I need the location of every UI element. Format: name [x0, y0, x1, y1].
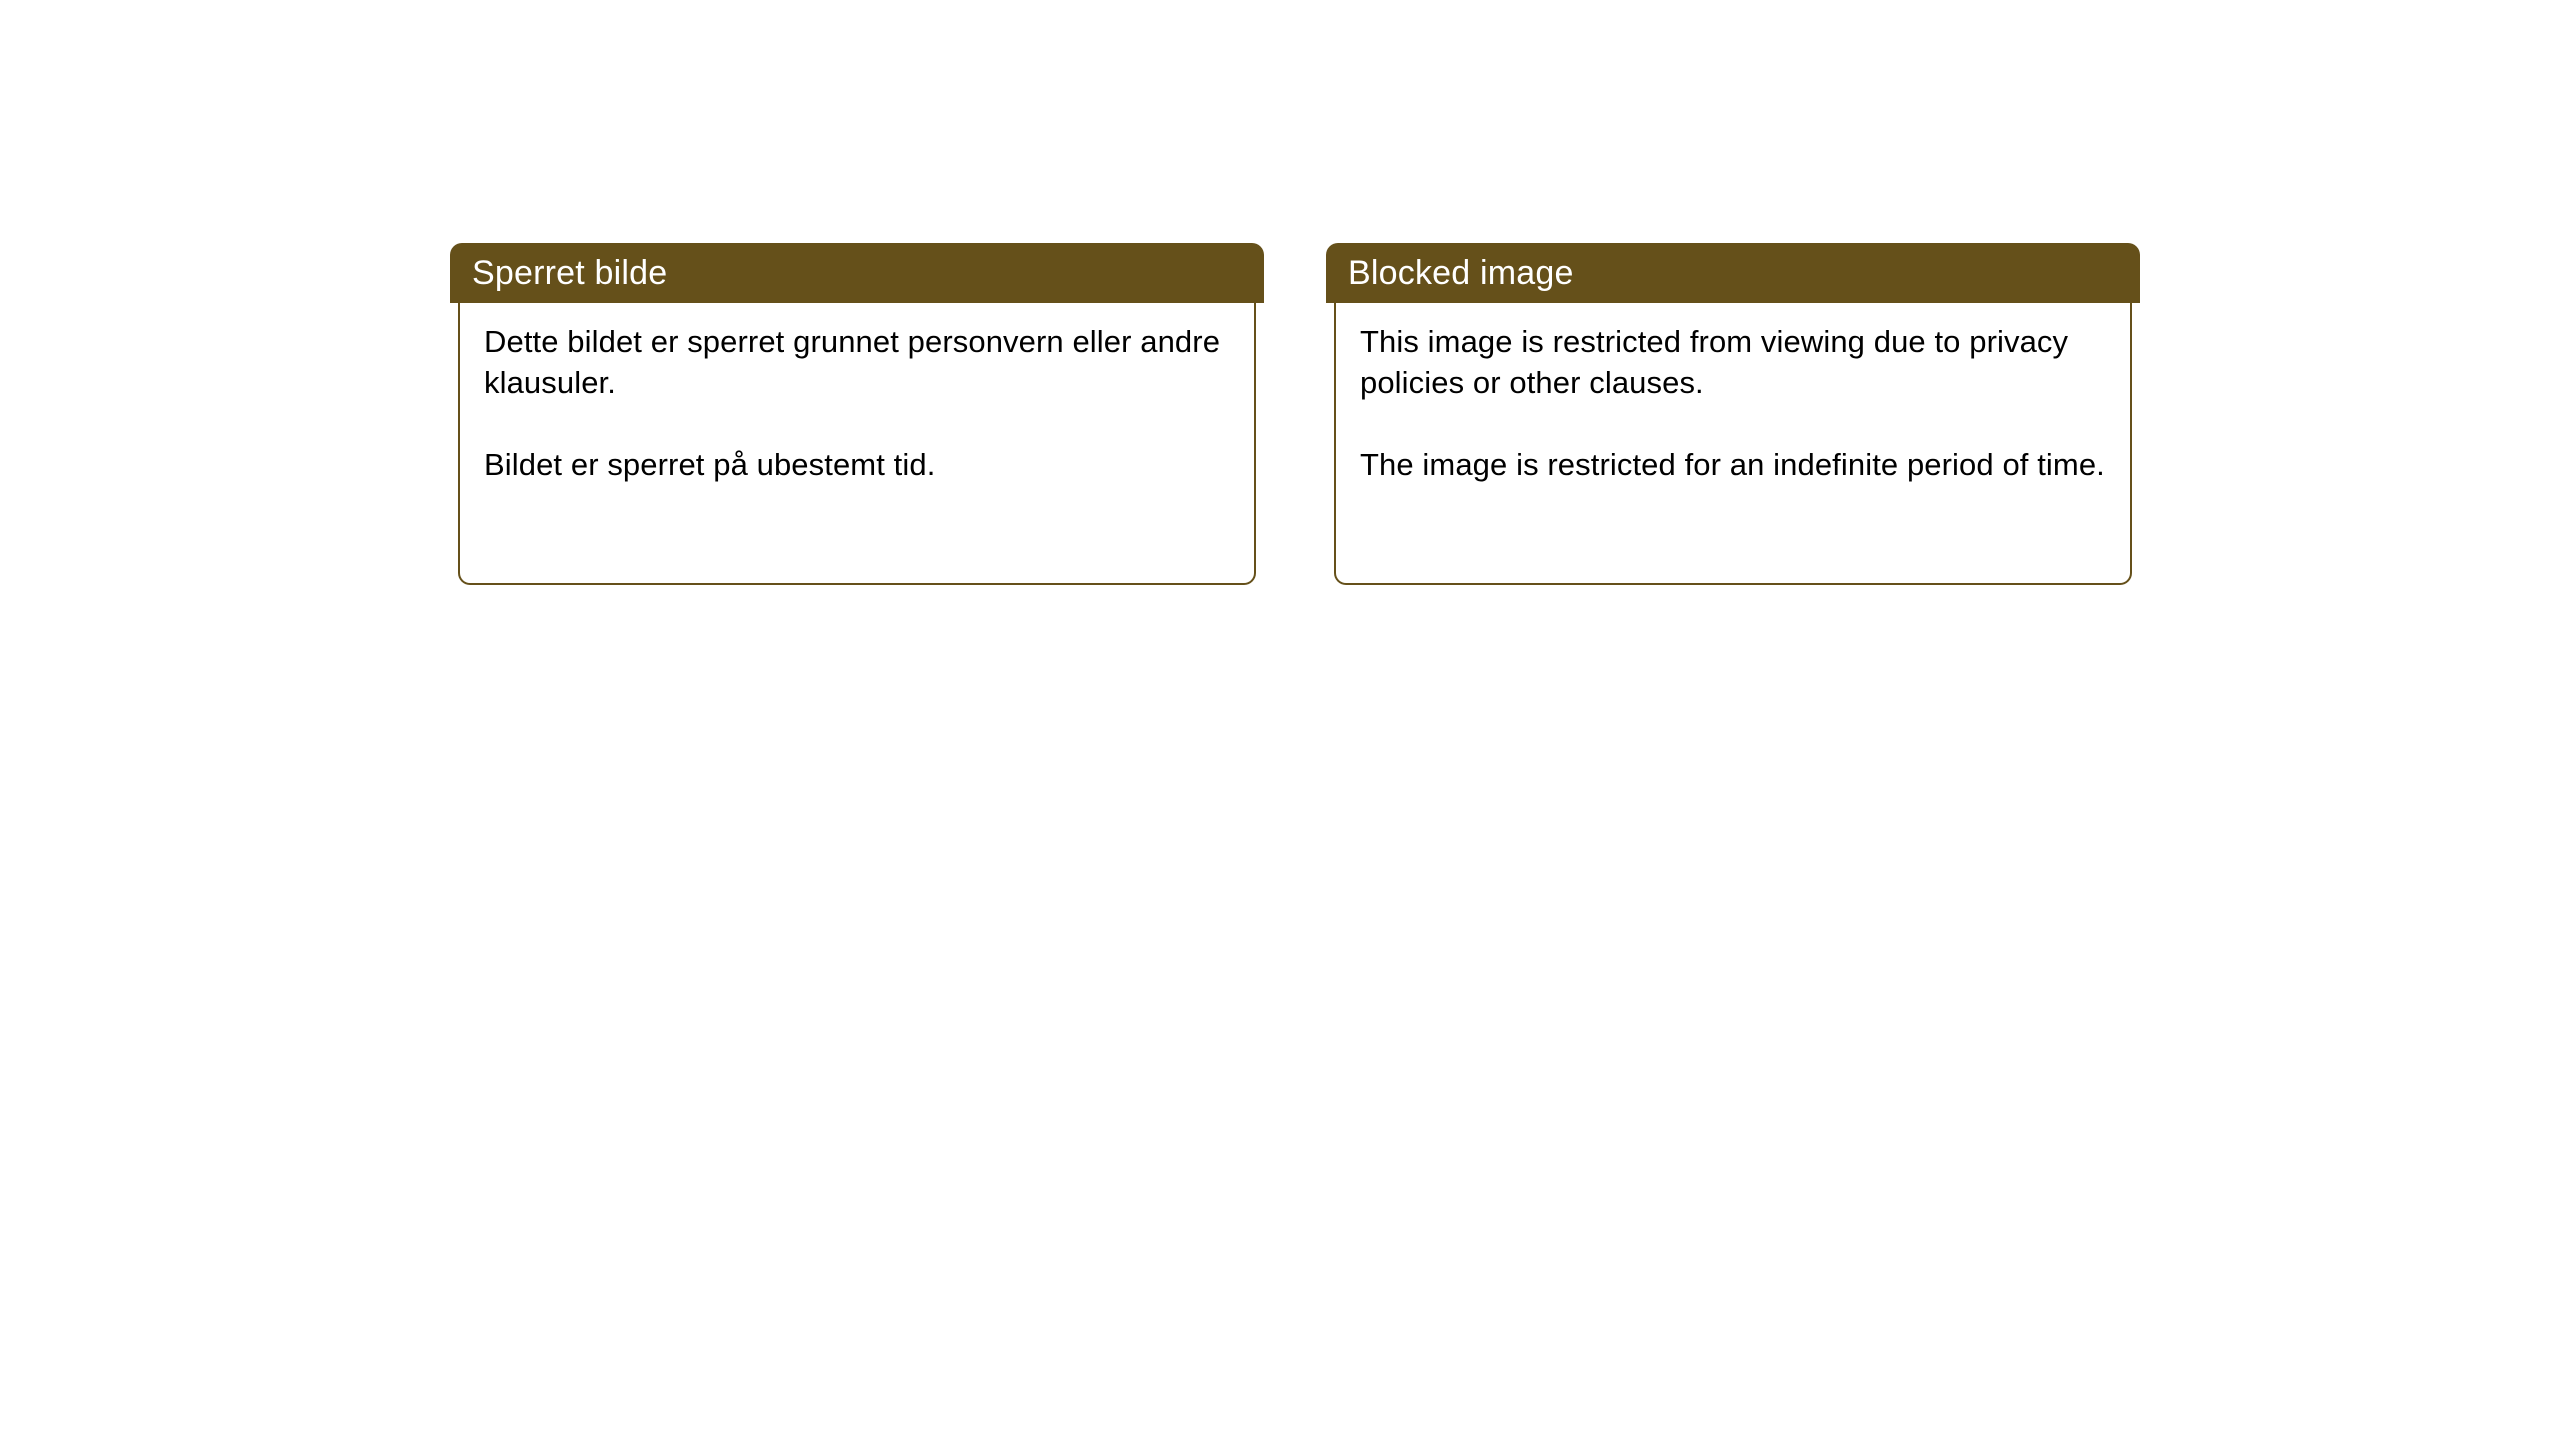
card-paragraph-norwegian-1: Dette bildet er sperret grunnet personve…: [484, 321, 1230, 403]
card-header-english: Blocked image: [1326, 243, 2140, 303]
card-paragraph-english-1: This image is restricted from viewing du…: [1360, 321, 2106, 403]
paragraph-spacer: [1360, 403, 2106, 444]
card-body-norwegian: Dette bildet er sperret grunnet personve…: [458, 303, 1256, 585]
card-body-english: This image is restricted from viewing du…: [1334, 303, 2132, 585]
blocked-image-card-norwegian: Sperret bilde Dette bildet er sperret gr…: [450, 243, 1264, 585]
card-paragraph-norwegian-2: Bildet er sperret på ubestemt tid.: [484, 444, 1230, 485]
card-title-norwegian: Sperret bilde: [472, 254, 667, 292]
card-paragraph-english-2: The image is restricted for an indefinit…: [1360, 444, 2106, 485]
paragraph-spacer: [484, 403, 1230, 444]
card-header-norwegian: Sperret bilde: [450, 243, 1264, 303]
blocked-image-card-english: Blocked image This image is restricted f…: [1326, 243, 2140, 585]
blocked-image-notice-group: Sperret bilde Dette bildet er sperret gr…: [450, 243, 2140, 585]
card-title-english: Blocked image: [1348, 254, 1574, 292]
